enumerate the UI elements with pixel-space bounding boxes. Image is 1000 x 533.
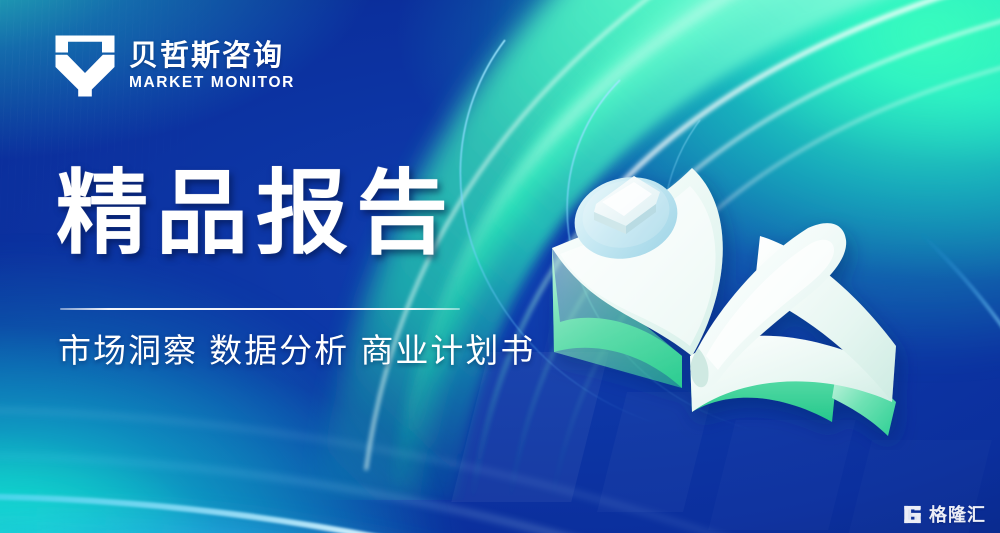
logo-wordmark: 贝哲斯咨询 MARKET MONITOR bbox=[129, 42, 295, 91]
title-divider bbox=[60, 308, 460, 310]
logo-name-en: MARKET MONITOR bbox=[129, 75, 295, 91]
page-title: 精品报告 bbox=[56, 166, 456, 263]
source-watermark: 格隆汇 bbox=[902, 504, 986, 525]
report-banner: 贝哲斯咨询 MARKET MONITOR 精品报告 市场洞察 数据分析 商业计划… bbox=[0, 0, 1000, 533]
brand-logo[interactable]: 贝哲斯咨询 MARKET MONITOR bbox=[54, 34, 295, 98]
market-monitor-m-mark-icon bbox=[54, 34, 116, 98]
gelonghui-g-logo-icon bbox=[902, 504, 923, 525]
logo-name-cn: 贝哲斯咨询 bbox=[129, 42, 295, 71]
watermark-label: 格隆汇 bbox=[929, 506, 986, 524]
page-subtitle: 市场洞察 数据分析 商业计划书 bbox=[58, 330, 535, 371]
open-book-3d-illustration bbox=[530, 150, 950, 450]
